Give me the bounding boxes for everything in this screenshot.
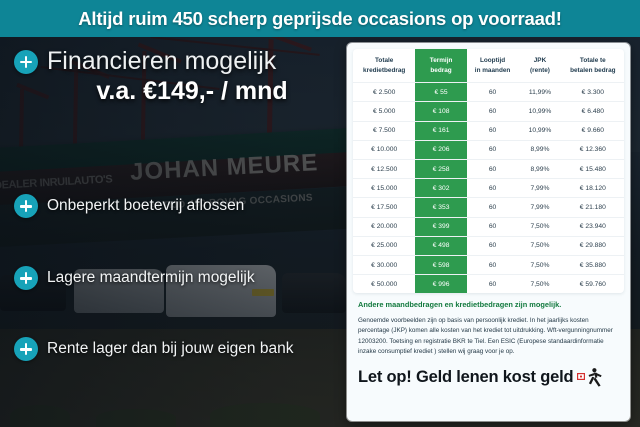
table-cell: € 6.480 (562, 102, 624, 121)
table-cell: 60 (467, 121, 518, 140)
table-cell: 8,99% (518, 159, 561, 178)
column-header-monthly-amount: Termijn bedrag (415, 49, 466, 83)
column-header-total-payable: Totale te betalen bedrag (562, 49, 624, 83)
table-row: € 2.500€ 556011,99%€ 3.300 (353, 83, 624, 102)
table-cell: 60 (467, 159, 518, 178)
table-cell: € 399 (415, 217, 466, 236)
table-cell: 7,50% (518, 255, 561, 274)
running-man-money-icon (577, 367, 603, 387)
benefit-item-2: Lagere maandtermijn mogelijk (14, 266, 255, 290)
table-cell: € 7.500 (353, 121, 415, 140)
table-row: € 20.000€ 399607,50%€ 23.940 (353, 217, 624, 236)
table-cell: € 29.880 (562, 236, 624, 255)
plus-icon (14, 50, 38, 74)
table-cell: € 10.000 (353, 140, 415, 159)
table-cell: 60 (467, 102, 518, 121)
table-cell: 60 (467, 198, 518, 217)
column-header-duration: Looptijd in maanden (467, 49, 518, 83)
table-cell: 60 (467, 83, 518, 102)
footer-legal-text: Genoemde voorbeelden zijn op basis van p… (358, 316, 619, 358)
warning-row: Let op! Geld lenen kost geld (347, 367, 630, 395)
table-cell: € 30.000 (353, 255, 415, 274)
table-cell: € 50.000 (353, 275, 415, 294)
table-cell: € 12.360 (562, 140, 624, 159)
table-cell: € 2.500 (353, 83, 415, 102)
table-cell: 60 (467, 236, 518, 255)
table-cell: 8,99% (518, 140, 561, 159)
table-cell: € 18.120 (562, 179, 624, 198)
table-cell: € 3.300 (562, 83, 624, 102)
table-cell: € 258 (415, 159, 466, 178)
table-row: € 30.000€ 598607,50%€ 35.880 (353, 255, 624, 274)
table-row: € 7.500€ 1616010,99%€ 9.660 (353, 121, 624, 140)
footer-heading: Andere maandbedragen en kredietbedragen … (358, 300, 619, 310)
table-cell: € 17.500 (353, 198, 415, 217)
table-cell: 11,99% (518, 83, 561, 102)
warning-text: Let op! Geld lenen kost geld (358, 368, 573, 387)
table-cell: € 5.000 (353, 102, 415, 121)
table-cell: 60 (467, 255, 518, 274)
table-cell: € 206 (415, 140, 466, 159)
headline-line-1: Financieren mogelijk (47, 47, 276, 76)
table-cell: € 598 (415, 255, 466, 274)
benefit-label: Onbeperkt boetevrij aflossen (47, 197, 244, 215)
table-row: € 5.000€ 1086010,99%€ 6.480 (353, 102, 624, 121)
table-cell: € 35.880 (562, 255, 624, 274)
left-benefits-column: Financieren mogelijk v.a. €149,- / mnd O… (0, 37, 348, 427)
headline-line-2: v.a. €149,- / mnd (14, 77, 344, 106)
finance-table: Totale kredietbedrag Termijn bedrag Loop… (353, 49, 624, 293)
table-cell: € 20.000 (353, 217, 415, 236)
table-cell: 7,50% (518, 236, 561, 255)
benefit-item-3: Rente lager dan bij jouw eigen bank (14, 337, 293, 361)
table-cell: 60 (467, 275, 518, 294)
plus-icon (14, 266, 38, 290)
table-row: € 12.500€ 258608,99%€ 15.480 (353, 159, 624, 178)
table-cell: 60 (467, 179, 518, 198)
table-cell: € 59.760 (562, 275, 624, 294)
table-body: € 2.500€ 556011,99%€ 3.300€ 5.000€ 10860… (353, 83, 624, 294)
table-cell: € 23.940 (562, 217, 624, 236)
benefit-item-1: Onbeperkt boetevrij aflossen (14, 194, 244, 218)
table-cell: € 21.180 (562, 198, 624, 217)
table-row: € 10.000€ 206608,99%€ 12.360 (353, 140, 624, 159)
table-cell: 7,99% (518, 179, 561, 198)
plus-icon (14, 337, 38, 361)
top-headline-bar: Altijd ruim 450 scherp geprijsde occasio… (0, 0, 640, 37)
table-cell: € 9.660 (562, 121, 624, 140)
benefit-label: Lagere maandtermijn mogelijk (47, 269, 255, 287)
table-cell: € 25.000 (353, 236, 415, 255)
table-cell: € 55 (415, 83, 466, 102)
table-cell: 60 (467, 217, 518, 236)
table-cell: 60 (467, 140, 518, 159)
table-header-row: Totale kredietbedrag Termijn bedrag Loop… (353, 49, 624, 83)
table-cell: € 161 (415, 121, 466, 140)
table-cell: 7,99% (518, 198, 561, 217)
table-cell: 10,99% (518, 121, 561, 140)
table-cell: € 15.480 (562, 159, 624, 178)
table-cell: 7,50% (518, 217, 561, 236)
headline-block: Financieren mogelijk v.a. €149,- / mnd (14, 47, 344, 106)
table-cell: € 498 (415, 236, 466, 255)
table-cell: € 15.000 (353, 179, 415, 198)
column-header-jpk: JPK (rente) (518, 49, 561, 83)
top-headline-text: Altijd ruim 450 scherp geprijsde occasio… (78, 8, 562, 30)
table-cell: € 996 (415, 275, 466, 294)
table-row: € 50.000€ 996607,50%€ 59.760 (353, 275, 624, 294)
table-row: € 17.500€ 353607,99%€ 21.180 (353, 198, 624, 217)
benefit-label: Rente lager dan bij jouw eigen bank (47, 340, 293, 358)
table-cell: € 108 (415, 102, 466, 121)
table-cell: 10,99% (518, 102, 561, 121)
table-row: € 15.000€ 302607,99%€ 18.120 (353, 179, 624, 198)
advertisement-banner: Altijd ruim 450 scherp geprijsde occasio… (0, 0, 640, 427)
headline-row: Financieren mogelijk (14, 47, 344, 76)
column-header-total-credit: Totale kredietbedrag (353, 49, 415, 83)
card-footer: Andere maandbedragen en kredietbedragen … (347, 293, 630, 358)
table-cell: € 353 (415, 198, 466, 217)
table-cell: € 12.500 (353, 159, 415, 178)
table-head: Totale kredietbedrag Termijn bedrag Loop… (353, 49, 624, 83)
finance-info-card: Totale kredietbedrag Termijn bedrag Loop… (347, 43, 630, 421)
finance-table-container: Totale kredietbedrag Termijn bedrag Loop… (353, 49, 624, 293)
plus-icon (14, 194, 38, 218)
table-row: € 25.000€ 498607,50%€ 29.880 (353, 236, 624, 255)
table-cell: 7,50% (518, 275, 561, 294)
table-cell: € 302 (415, 179, 466, 198)
